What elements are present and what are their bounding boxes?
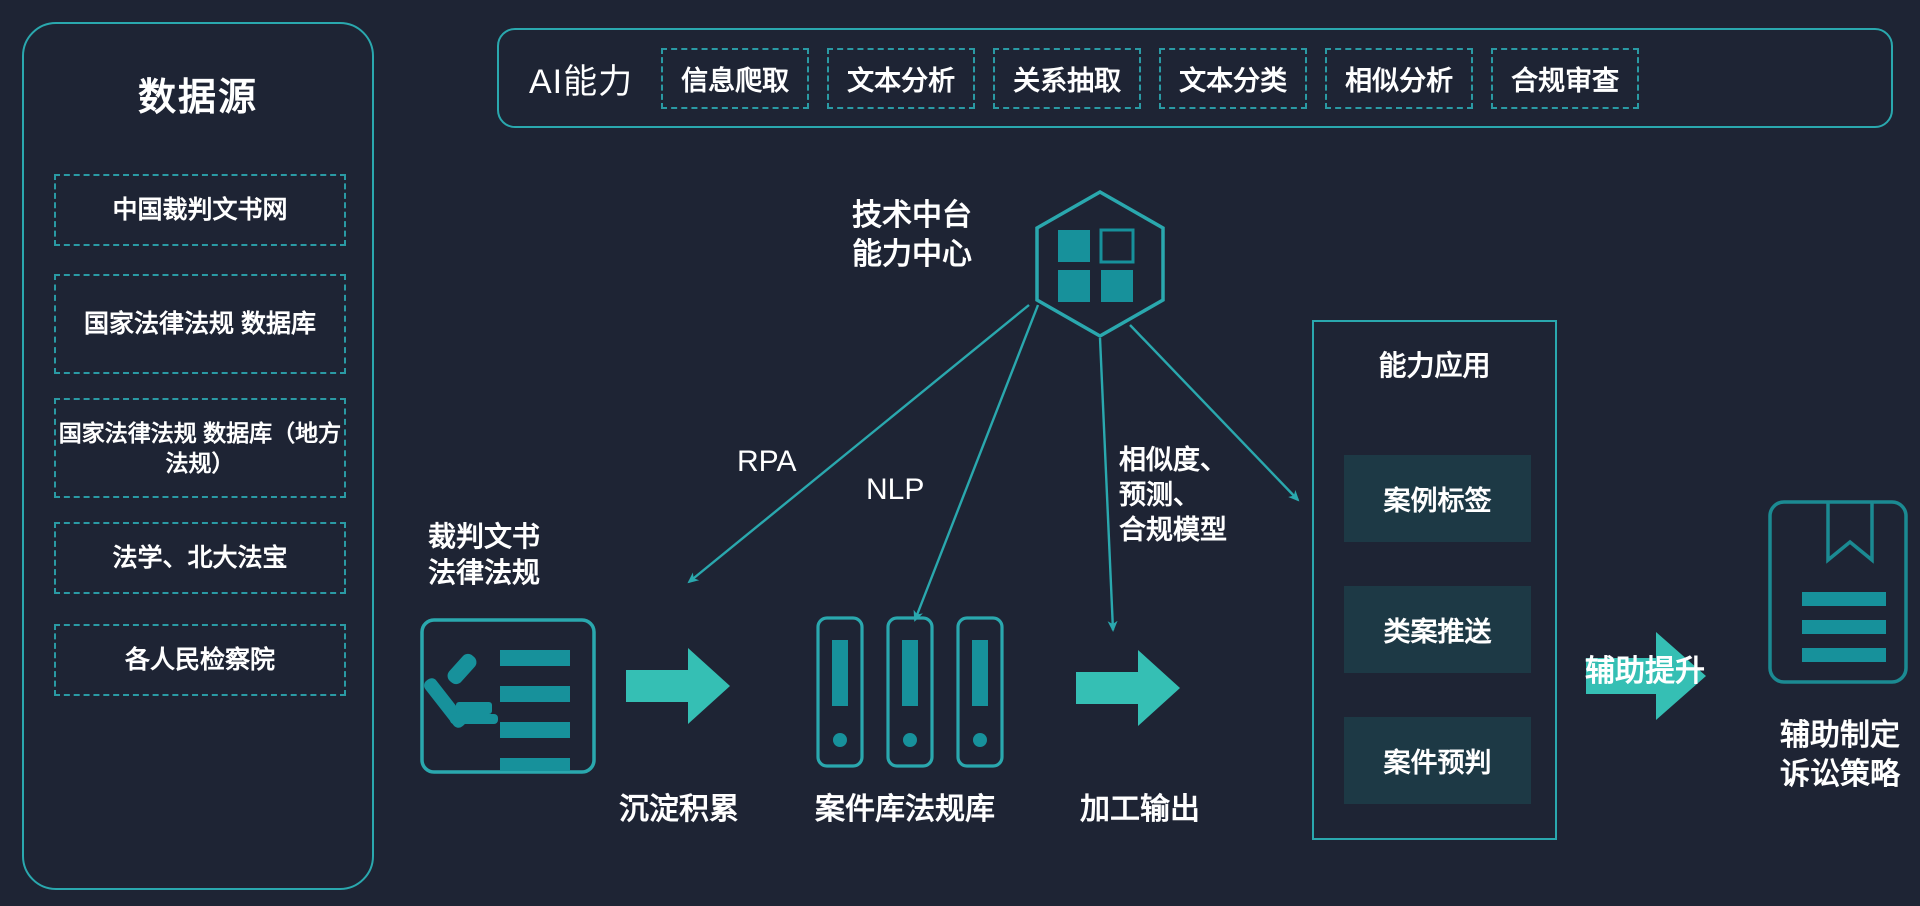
capability-application-title: 能力应用 — [1314, 344, 1555, 384]
connector-label-nlp: NLP — [866, 470, 924, 509]
connector-label-model: 相似度、 预测、 合规模型 — [1119, 443, 1227, 548]
capability-item-similar-case-push[interactable]: 类案推送 — [1344, 586, 1531, 673]
flow-label-accumulate: 沉淀积累 — [619, 790, 739, 829]
connector-nlp — [915, 305, 1038, 620]
connector-layer — [0, 0, 1920, 906]
flow-arrow-2 — [1076, 650, 1180, 726]
connector-model — [1100, 338, 1113, 630]
server-rack-icon — [818, 618, 1002, 766]
flow-label-assist: 辅助提升 — [1585, 652, 1705, 691]
docs-label: 裁判文书 法律法规 — [428, 519, 540, 592]
flow-label-store: 案件库法规库 — [815, 790, 995, 829]
capability-application-panel: 能力应用 案例标签 类案推送 案件预判 — [1312, 320, 1557, 840]
hub-label: 技术中台 能力中心 — [852, 196, 972, 274]
bookmark-document-icon — [1770, 502, 1906, 682]
flow-label-process-output: 加工输出 — [1080, 790, 1200, 829]
capability-item-case-prediction[interactable]: 案件预判 — [1344, 717, 1531, 804]
flow-arrow-1 — [626, 648, 730, 724]
result-label: 辅助制定 诉讼策略 — [1766, 716, 1914, 794]
hexagon-grid-icon — [1037, 192, 1163, 336]
gavel-document-icon — [422, 620, 594, 772]
diagram-canvas: 数据源 中国裁判文书网 国家法律法规 数据库 国家法律法规 数据库（地方法规） … — [0, 0, 1920, 906]
connector-label-rpa: RPA — [737, 442, 796, 481]
capability-item-case-label[interactable]: 案例标签 — [1344, 455, 1531, 542]
